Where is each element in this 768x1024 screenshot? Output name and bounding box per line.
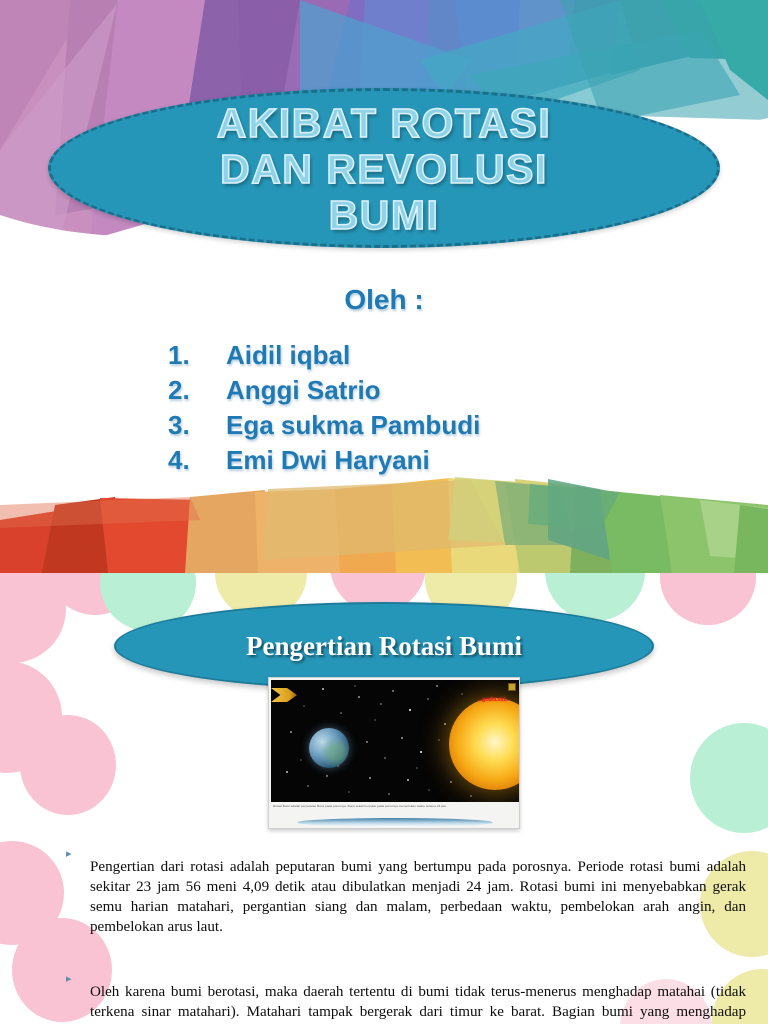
earth-graphic [309,728,349,768]
decorative-dot [660,573,756,625]
decorative-dot [690,723,768,833]
paragraph-text: Pengertian dari rotasi adalah peputaran … [90,858,746,938]
list-item: ▸ Oleh karena bumi berotasi, maka daerah… [66,968,746,1024]
title-line-1: AKIBAT ROTASI [217,101,552,145]
bullet-marker-icon: ▸ [66,968,90,985]
author-name: Emi Dwi Haryani [226,445,648,476]
slide-pengertian-rotasi-bumi: Pengertian Rotasi Bumi [0,573,768,1024]
author-list: 1. Aidil iqbal 2. Anggi Satrio 3. Ega su… [168,340,648,480]
list-item: 4. Emi Dwi Haryani [168,445,648,480]
decorative-dot [20,715,116,815]
list-item: 2. Anggi Satrio [168,375,648,410]
slide-title: AKIBAT ROTASI DAN REVOLUSI BUMI Oleh : 1… [0,0,768,573]
author-number: 3. [168,410,226,441]
title-line-3: BUMI [329,193,440,237]
list-item: 1. Aidil iqbal [168,340,648,375]
paragraph-text: Oleh karena bumi berotasi, maka daerah t… [90,983,746,1024]
reflection-shelf [297,818,493,827]
presentation-title: AKIBAT ROTASI DAN REVOLUSI BUMI [48,86,720,252]
video-caption: Rotasi Bumi adalah perputaran Bumi pada … [273,804,517,809]
list-item: ▸ Pengertian dari rotasi adalah peputara… [66,843,746,953]
video-stage: ...godhi.std... [271,680,519,802]
author-name: Anggi Satrio [226,375,648,406]
author-number: 4. [168,445,226,476]
author-number: 1. [168,340,226,371]
bullet-marker-icon: ▸ [66,843,90,860]
list-item: 3. Ega sukma Pambudi [168,410,648,445]
byline-label: Oleh : [0,284,768,316]
title-line-2: DAN REVOLUSI [220,147,548,191]
body-bullet-list: ▸ Pengertian dari rotasi adalah peputara… [66,843,746,1024]
author-name: Ega sukma Pambudi [226,410,648,441]
watermark-text: ...godhi.std... [478,697,509,703]
author-number: 2. [168,375,226,406]
media-badge-icon [508,683,516,691]
author-name: Aidil iqbal [226,340,648,371]
video-thumbnail[interactable]: ...godhi.std... Rotasi Bumi adalah perpu… [268,677,520,829]
